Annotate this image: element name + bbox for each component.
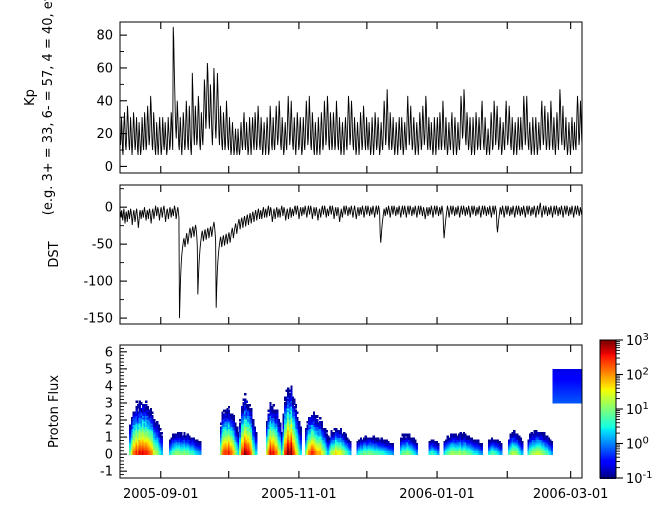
colorbar-tick-label: 102 <box>626 367 649 384</box>
spectrogram-cell <box>316 419 318 422</box>
colorbar-tick-label: 100 <box>626 436 649 453</box>
spectrogram-cell <box>228 410 230 413</box>
spectrogram-cell <box>246 400 248 403</box>
y-tick-label: 20 <box>96 127 113 142</box>
spectrogram-cell <box>392 443 394 446</box>
colorbar-tick-label: 101 <box>626 401 649 418</box>
kp-panel-frame <box>120 22 582 173</box>
spectrogram-cell <box>300 426 302 429</box>
spectrogram-cell <box>520 437 522 440</box>
spectrogram-cell <box>158 424 160 427</box>
spectrogram-cell <box>513 430 515 433</box>
spectrogram-cell <box>414 439 416 442</box>
y-tick-label: 80 <box>96 29 113 44</box>
spectrogram-cell <box>349 441 351 444</box>
spectrogram-cell <box>293 399 295 402</box>
y-tick-label: 0 <box>105 201 113 216</box>
y-tick-label: 0 <box>105 160 113 175</box>
dst-axis-label: DST <box>47 241 62 267</box>
figure-canvas: 020406080Kp(e.g. 3+ = 33, 6- = 57, 4 = 4… <box>0 0 665 523</box>
spectrogram-cell <box>145 400 147 403</box>
y-tick-label: 60 <box>96 61 113 76</box>
spectrogram-cell <box>340 428 342 431</box>
spectrogram-cell <box>551 441 553 444</box>
spectrogram-cell <box>151 415 153 418</box>
colorbar-tick-label: 103 <box>626 332 649 349</box>
spectrogram-cell <box>481 443 483 446</box>
spectrogram-cell <box>180 432 182 435</box>
spectrogram-cell <box>298 421 300 424</box>
spectrogram-data <box>129 369 582 455</box>
spectrogram-cell <box>161 432 163 435</box>
kp-panel-trace <box>120 27 582 155</box>
proton-flux-axis-label: Proton Flux <box>47 375 62 448</box>
spectrogram-cell <box>150 408 152 411</box>
spectrogram-cell <box>153 419 155 422</box>
spectrogram-cell <box>295 404 297 407</box>
proton-flux-panel-frame <box>120 345 582 478</box>
y-tick-label: -100 <box>83 275 113 290</box>
spectrogram-cell <box>276 410 278 413</box>
spectrogram-cell <box>316 415 318 418</box>
kp-axis-sublabel: (e.g. 3+ = 33, 6- = 57, 4 = 40, etc.) <box>41 0 56 215</box>
spectrogram-cell <box>521 441 523 444</box>
x-tick-label: 2005-11-01 <box>261 487 337 502</box>
spectrogram-cell <box>326 430 328 433</box>
spectrogram-cell <box>278 419 280 422</box>
spectrogram-cell <box>156 421 158 424</box>
spectrogram-cell <box>416 443 418 446</box>
spectrogram-cell <box>234 423 236 426</box>
spectrogram-cell <box>543 432 545 435</box>
y-tick-label: 3 <box>105 396 113 411</box>
dst-panel-trace <box>120 203 582 318</box>
spectrogram-cell <box>244 393 246 396</box>
spectrogram-cell <box>319 417 321 420</box>
spectrogram-cell <box>255 432 257 435</box>
spectrogram-cell <box>269 402 271 405</box>
y-tick-label: -150 <box>83 312 113 327</box>
spectrogram-cell <box>183 432 185 435</box>
spectrogram-cell <box>254 426 256 429</box>
x-tick-label: 2005-09-01 <box>123 487 199 502</box>
spectrogram-cell <box>477 439 479 442</box>
space-weather-figure: 020406080Kp(e.g. 3+ = 33, 6- = 57, 4 = 4… <box>0 0 665 523</box>
spectrogram-cell <box>296 417 298 420</box>
colorbar-tick-label: 10-1 <box>626 470 653 487</box>
spectrogram-cell <box>252 419 254 422</box>
spectrogram-cell <box>151 412 153 415</box>
y-tick-label: 2 <box>105 414 113 429</box>
spectrogram-cell <box>147 406 149 409</box>
spectrogram-cell <box>233 415 235 418</box>
spectrogram-cell <box>296 412 298 415</box>
spectrogram-cell <box>161 436 163 439</box>
spectrogram-cell <box>437 443 439 446</box>
spectrogram-cell <box>290 386 292 389</box>
kp-axis-label: Kp <box>23 89 38 106</box>
spectrogram-cell <box>279 423 281 426</box>
spectrogram-cell <box>250 408 252 411</box>
spectrogram-cell <box>199 441 201 444</box>
spectrogram-cell <box>228 406 230 409</box>
spectrogram-cell <box>408 434 410 437</box>
y-tick-label: 6 <box>105 345 113 360</box>
spectrogram-cell <box>321 421 323 424</box>
y-tick-label: 4 <box>105 379 113 394</box>
spectrogram-cell <box>136 400 138 403</box>
spectrogram-cell <box>500 443 502 446</box>
y-tick-label: -50 <box>92 238 113 253</box>
x-tick-label: 2006-03-01 <box>533 487 609 502</box>
spectrogram-cell <box>313 412 315 415</box>
y-tick-label: 5 <box>105 362 113 377</box>
spectrogram-cell <box>236 426 238 429</box>
spectrogram-cell <box>249 404 251 407</box>
y-tick-label: 40 <box>96 94 113 109</box>
y-tick-label: -1 <box>100 465 113 480</box>
spectrogram-cell <box>159 428 161 431</box>
x-tick-label: 2006-01-01 <box>399 487 475 502</box>
spectrogram-cell <box>345 434 347 437</box>
y-tick-label: 1 <box>105 431 113 446</box>
y-tick-label: 0 <box>105 448 113 463</box>
spectrogram-cell <box>273 404 275 407</box>
